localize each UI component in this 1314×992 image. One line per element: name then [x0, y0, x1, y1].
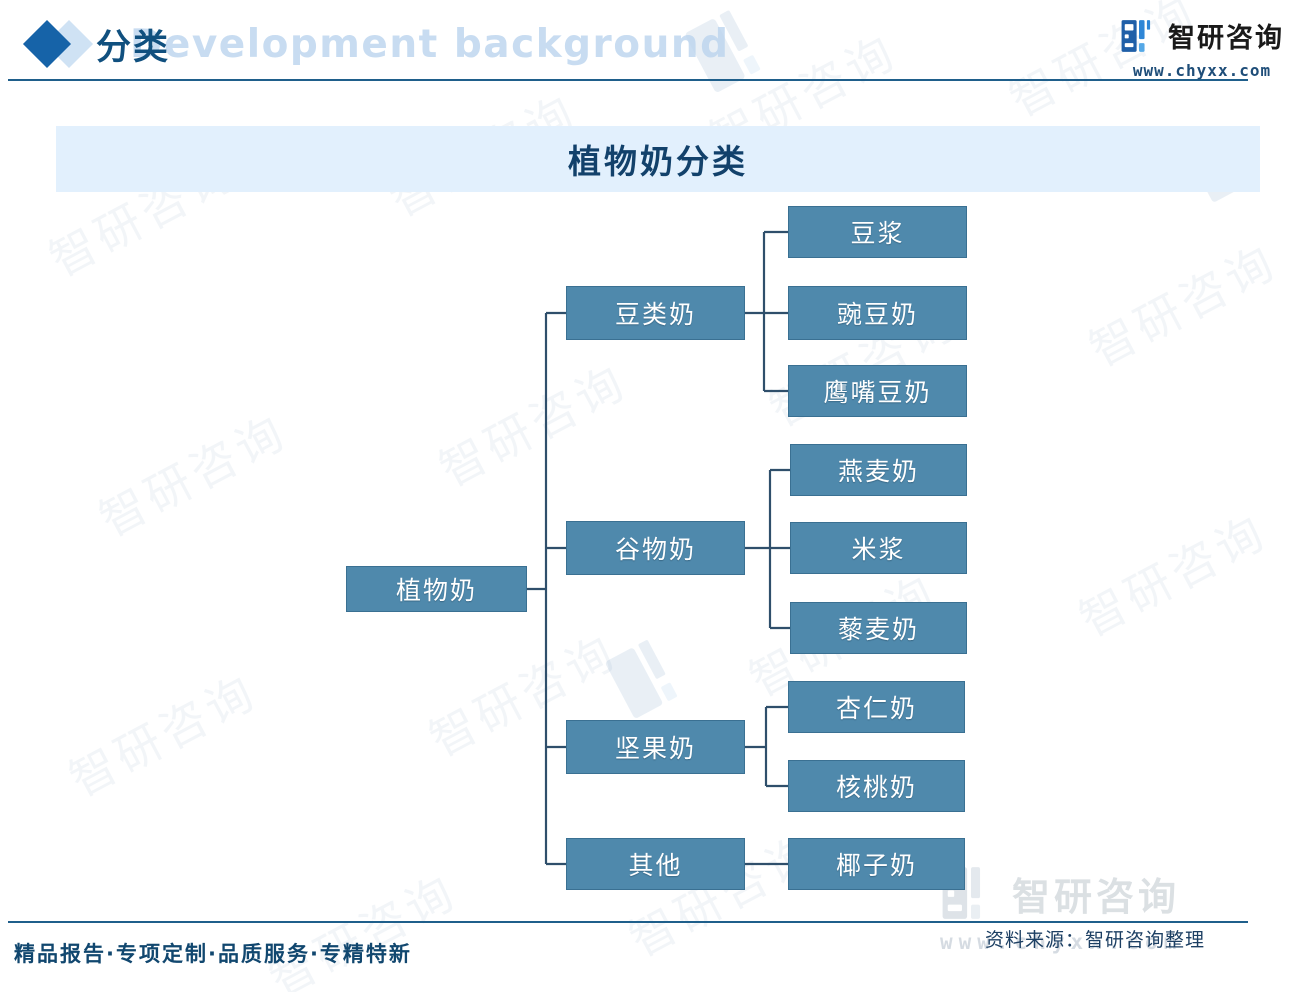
diagram-node-item-0-2[interactable]: 鹰嘴豆奶: [788, 365, 967, 417]
diagram-node-item-0-1[interactable]: 豌豆奶: [788, 286, 967, 340]
footer-divider: [8, 921, 1248, 923]
watermark-text: 智研咨询: [1066, 496, 1277, 650]
brand-url: www.chyxx.com: [1120, 61, 1284, 80]
diagram-node-category-0[interactable]: 豆类奶: [566, 286, 745, 340]
watermark-text: 智研咨询: [426, 346, 637, 500]
source-note: 资料来源：智研咨询整理: [985, 925, 1205, 952]
chyxx-logo-icon: [1120, 17, 1158, 55]
brand-block: 智研咨询 www.chyxx.com: [1120, 16, 1284, 80]
diagram-node-category-2[interactable]: 坚果奶: [566, 720, 745, 774]
diagram-node-item-0-0[interactable]: 豆浆: [788, 206, 967, 258]
title-banner: 植物奶分类: [56, 126, 1260, 192]
watermark-logo-icon: [595, 615, 711, 731]
page-title: 分类: [96, 19, 170, 70]
diagram-node-item-3-0[interactable]: 椰子奶: [788, 838, 965, 890]
diagram-node-category-3[interactable]: 其他: [566, 838, 745, 890]
diagram-node-item-1-0[interactable]: 燕麦奶: [790, 444, 967, 496]
corner-watermark-name: 智研咨询: [1012, 866, 1180, 921]
watermark-text: 智研咨询: [86, 396, 297, 550]
page-header: Development background 分类: [0, 0, 1314, 96]
diagram-node-root[interactable]: 植物奶: [346, 566, 527, 612]
watermark-text: 智研咨询: [1076, 226, 1287, 380]
watermark-text: 智研咨询: [56, 656, 267, 810]
watermark-text: 智研咨询: [256, 856, 467, 992]
header-divider: [8, 79, 1248, 81]
diagram-node-item-1-2[interactable]: 藜麦奶: [790, 602, 967, 654]
corner-watermark: 智研咨询: [940, 862, 1180, 924]
brand-row: 智研咨询: [1120, 16, 1284, 55]
diagram-node-category-1[interactable]: 谷物奶: [566, 521, 745, 575]
diagram-node-item-2-1[interactable]: 核桃奶: [788, 760, 965, 812]
footer-tagline: 精品报告·专项定制·品质服务·专精特新: [14, 938, 412, 968]
diagram-title: 植物奶分类: [568, 135, 748, 183]
diagram-node-item-1-1[interactable]: 米浆: [790, 522, 967, 574]
brand-name: 智研咨询: [1168, 16, 1284, 55]
ghost-title-text: Development background: [130, 22, 730, 67]
diagram-node-item-2-0[interactable]: 杏仁奶: [788, 681, 965, 733]
